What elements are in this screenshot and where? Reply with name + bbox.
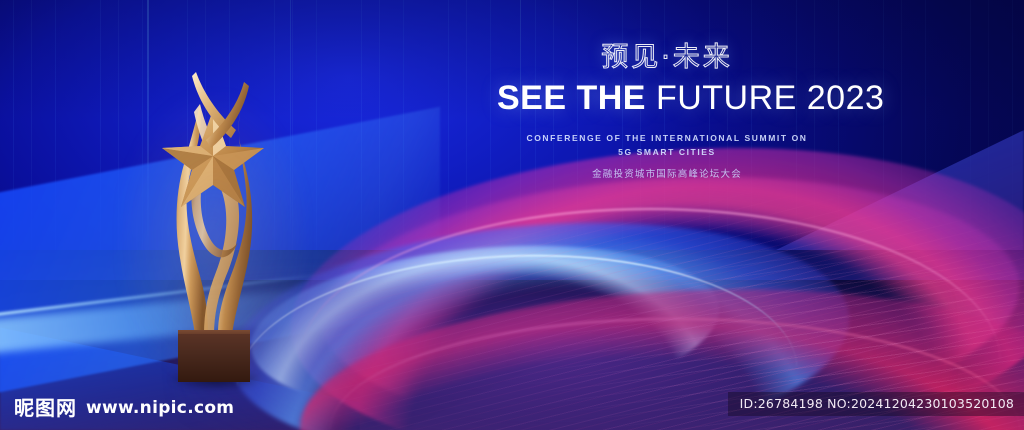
id-badge: ID:26784198 NO:20241204230103520108 xyxy=(728,392,1024,416)
chinese-title: 预见·未来 xyxy=(497,42,837,73)
watermark-logo-text: 昵图网 xyxy=(14,398,77,418)
subtitle-english: CONFERENGE OF THE INTERNATIONAL SUMMIT O… xyxy=(497,131,837,159)
subtitle-english-line2: 5G SMART CITIES xyxy=(497,145,837,159)
subtitle-english-line1: CONFERENGE OF THE INTERNATIONAL SUMMIT O… xyxy=(497,131,837,145)
subtitle-chinese: 金融投资城市国际高峰论坛大会 xyxy=(497,166,837,180)
watermark: 昵图网 www.nipic.com xyxy=(14,398,234,418)
watermark-url: www.nipic.com xyxy=(86,400,234,417)
headline-block: 预见·未来 SEE THE FUTURE 2023 CONFERENGE OF … xyxy=(497,42,837,180)
english-title: SEE THE FUTURE 2023 xyxy=(497,81,837,117)
english-title-bold: SEE THE xyxy=(497,79,646,117)
trophy-base xyxy=(178,334,250,382)
poster-canvas: 预见·未来 SEE THE FUTURE 2023 CONFERENGE OF … xyxy=(0,0,1024,430)
english-title-light: FUTURE 2023 xyxy=(656,79,884,117)
trophy-sculpture xyxy=(148,52,278,382)
